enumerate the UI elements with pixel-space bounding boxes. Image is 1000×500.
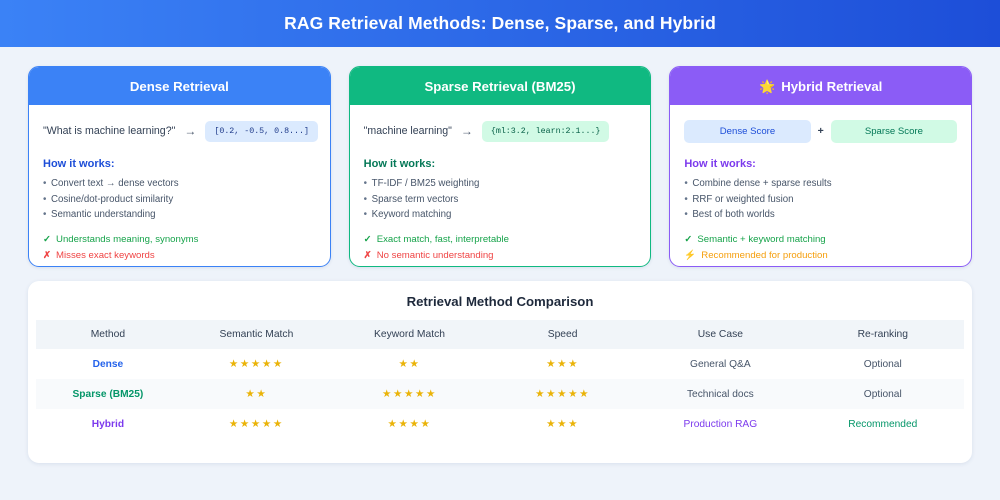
- column-header-use-case: Use Case: [639, 320, 801, 349]
- cell-re-ranking: Optional: [802, 379, 964, 409]
- page-title: RAG Retrieval Methods: Dense, Sparse, an…: [284, 13, 716, 34]
- list-item: Sparse term vectors: [364, 192, 637, 208]
- dense-query-text: "What is machine learning?": [43, 125, 175, 137]
- cell-re-ranking: Recommended: [802, 409, 964, 439]
- card-dense-retrieval: Dense Retrieval "What is machine learnin…: [28, 66, 331, 267]
- dense-con: ✗ Misses exact keywords: [43, 248, 316, 264]
- card-hybrid-body: Dense Score + Sparse Score How it works:…: [670, 105, 971, 266]
- card-dense-title: Dense Retrieval: [130, 79, 229, 94]
- cell-semantic-match: ★★★★★: [180, 409, 333, 439]
- cell-semantic-match: ★★★★★: [180, 349, 333, 379]
- cell-keyword-match: ★★★★★: [333, 379, 486, 409]
- hybrid-score-row: Dense Score + Sparse Score: [684, 118, 957, 144]
- hybrid-howto-label: How it works:: [684, 158, 957, 170]
- cell-speed: ★★★: [486, 409, 639, 439]
- cross-icon: ✗: [43, 248, 51, 264]
- lightning-icon: ⚡: [684, 248, 696, 264]
- cell-speed: ★★★★★: [486, 379, 639, 409]
- sparse-verdicts: ✓ Exact match, fast, interpretable ✗ No …: [364, 232, 637, 264]
- hybrid-verdicts: ✓ Semantic + keyword matching ⚡ Recommen…: [684, 232, 957, 264]
- cell-method: Hybrid: [36, 409, 180, 439]
- cross-icon: ✗: [364, 248, 372, 264]
- dense-bullet-list: Convert text → dense vectors Cosine/dot-…: [43, 176, 316, 223]
- comparison-table: Method Semantic Match Keyword Match Spee…: [36, 320, 964, 439]
- dense-howto-label: How it works:: [43, 158, 316, 170]
- dense-verdicts: ✓ Understands meaning, synonyms ✗ Misses…: [43, 232, 316, 264]
- card-sparse-title: Sparse Retrieval (BM25): [425, 79, 576, 94]
- hybrid-pro: ✓ Semantic + keyword matching: [684, 232, 957, 248]
- arrow-right-icon: →: [184, 125, 196, 137]
- list-item: Combine dense + sparse results: [684, 176, 957, 192]
- sparse-flow-row: "machine learning" → {ml:3.2, learn:2.1.…: [364, 118, 637, 144]
- check-icon: ✓: [364, 232, 372, 248]
- cell-method: Dense: [36, 349, 180, 379]
- table-header-row: Method Semantic Match Keyword Match Spee…: [36, 320, 964, 349]
- comparison-title: Retrieval Method Comparison: [36, 294, 964, 309]
- sparse-score-chip: Sparse Score: [831, 120, 957, 143]
- dense-pro: ✓ Understands meaning, synonyms: [43, 232, 316, 248]
- table-row: Dense ★★★★★ ★★ ★★★ General Q&A Optional: [36, 349, 964, 379]
- list-item: Cosine/dot-product similarity: [43, 192, 316, 208]
- cell-use-case: General Q&A: [639, 349, 801, 379]
- sparse-howto-label: How it works:: [364, 158, 637, 170]
- sparse-bullet-list: TF-IDF / BM25 weighting Sparse term vect…: [364, 176, 637, 223]
- column-header-keyword-match: Keyword Match: [333, 320, 486, 349]
- hybrid-recommendation: ⚡ Recommended for production: [684, 248, 957, 264]
- card-sparse-retrieval: Sparse Retrieval (BM25) "machine learnin…: [349, 66, 652, 267]
- card-sparse-header: Sparse Retrieval (BM25): [350, 67, 651, 105]
- card-dense-body: "What is machine learning?" → [0.2, -0.5…: [29, 105, 330, 266]
- sparkle-icon: 🌟: [759, 80, 775, 93]
- sparse-con: ✗ No semantic understanding: [364, 248, 637, 264]
- list-item: Convert text → dense vectors: [43, 176, 316, 192]
- hybrid-bullet-list: Combine dense + sparse results RRF or we…: [684, 176, 957, 223]
- column-header-semantic-match: Semantic Match: [180, 320, 333, 349]
- sparse-con-text: No semantic understanding: [377, 248, 494, 264]
- card-sparse-body: "machine learning" → {ml:3.2, learn:2.1.…: [350, 105, 651, 266]
- dense-con-text: Misses exact keywords: [56, 248, 155, 264]
- column-header-method: Method: [36, 320, 180, 349]
- dense-pro-text: Understands meaning, synonyms: [56, 232, 198, 248]
- list-item: Best of both worlds: [684, 207, 957, 223]
- list-item: Keyword matching: [364, 207, 637, 223]
- cell-use-case: Production RAG: [639, 409, 801, 439]
- cell-keyword-match: ★★★★: [333, 409, 486, 439]
- sparse-pro: ✓ Exact match, fast, interpretable: [364, 232, 637, 248]
- check-icon: ✓: [684, 232, 692, 248]
- card-dense-header: Dense Retrieval: [29, 67, 330, 105]
- sparse-term-chip: {ml:3.2, learn:2.1...}: [482, 121, 610, 142]
- arrow-right-icon: →: [461, 125, 473, 137]
- sparse-query-text: "machine learning": [364, 125, 452, 137]
- comparison-panel: Retrieval Method Comparison Method Seman…: [28, 281, 972, 463]
- hybrid-recommendation-text: Recommended for production: [701, 248, 827, 264]
- method-cards-row: Dense Retrieval "What is machine learnin…: [0, 47, 1000, 267]
- column-header-speed: Speed: [486, 320, 639, 349]
- list-item: Semantic understanding: [43, 207, 316, 223]
- dense-vector-chip: [0.2, -0.5, 0.8...]: [205, 121, 318, 142]
- table-row: Sparse (BM25) ★★ ★★★★★ ★★★★★ Technical d…: [36, 379, 964, 409]
- cell-keyword-match: ★★: [333, 349, 486, 379]
- cell-use-case: Technical docs: [639, 379, 801, 409]
- card-hybrid-retrieval: 🌟 Hybrid Retrieval Dense Score + Sparse …: [669, 66, 972, 267]
- cell-method: Sparse (BM25): [36, 379, 180, 409]
- dense-score-chip: Dense Score: [684, 120, 810, 143]
- hybrid-pro-text: Semantic + keyword matching: [697, 232, 825, 248]
- column-header-re-ranking: Re-ranking: [802, 320, 964, 349]
- card-hybrid-header: 🌟 Hybrid Retrieval: [670, 67, 971, 105]
- list-item: RRF or weighted fusion: [684, 192, 957, 208]
- cell-speed: ★★★: [486, 349, 639, 379]
- cell-re-ranking: Optional: [802, 349, 964, 379]
- plus-icon: +: [818, 125, 824, 137]
- list-item: TF-IDF / BM25 weighting: [364, 176, 637, 192]
- sparse-pro-text: Exact match, fast, interpretable: [377, 232, 509, 248]
- dense-flow-row: "What is machine learning?" → [0.2, -0.5…: [43, 118, 316, 144]
- check-icon: ✓: [43, 232, 51, 248]
- cell-semantic-match: ★★: [180, 379, 333, 409]
- page-header: RAG Retrieval Methods: Dense, Sparse, an…: [0, 0, 1000, 47]
- table-row: Hybrid ★★★★★ ★★★★ ★★★ Production RAG Rec…: [36, 409, 964, 439]
- card-hybrid-title: Hybrid Retrieval: [781, 79, 882, 94]
